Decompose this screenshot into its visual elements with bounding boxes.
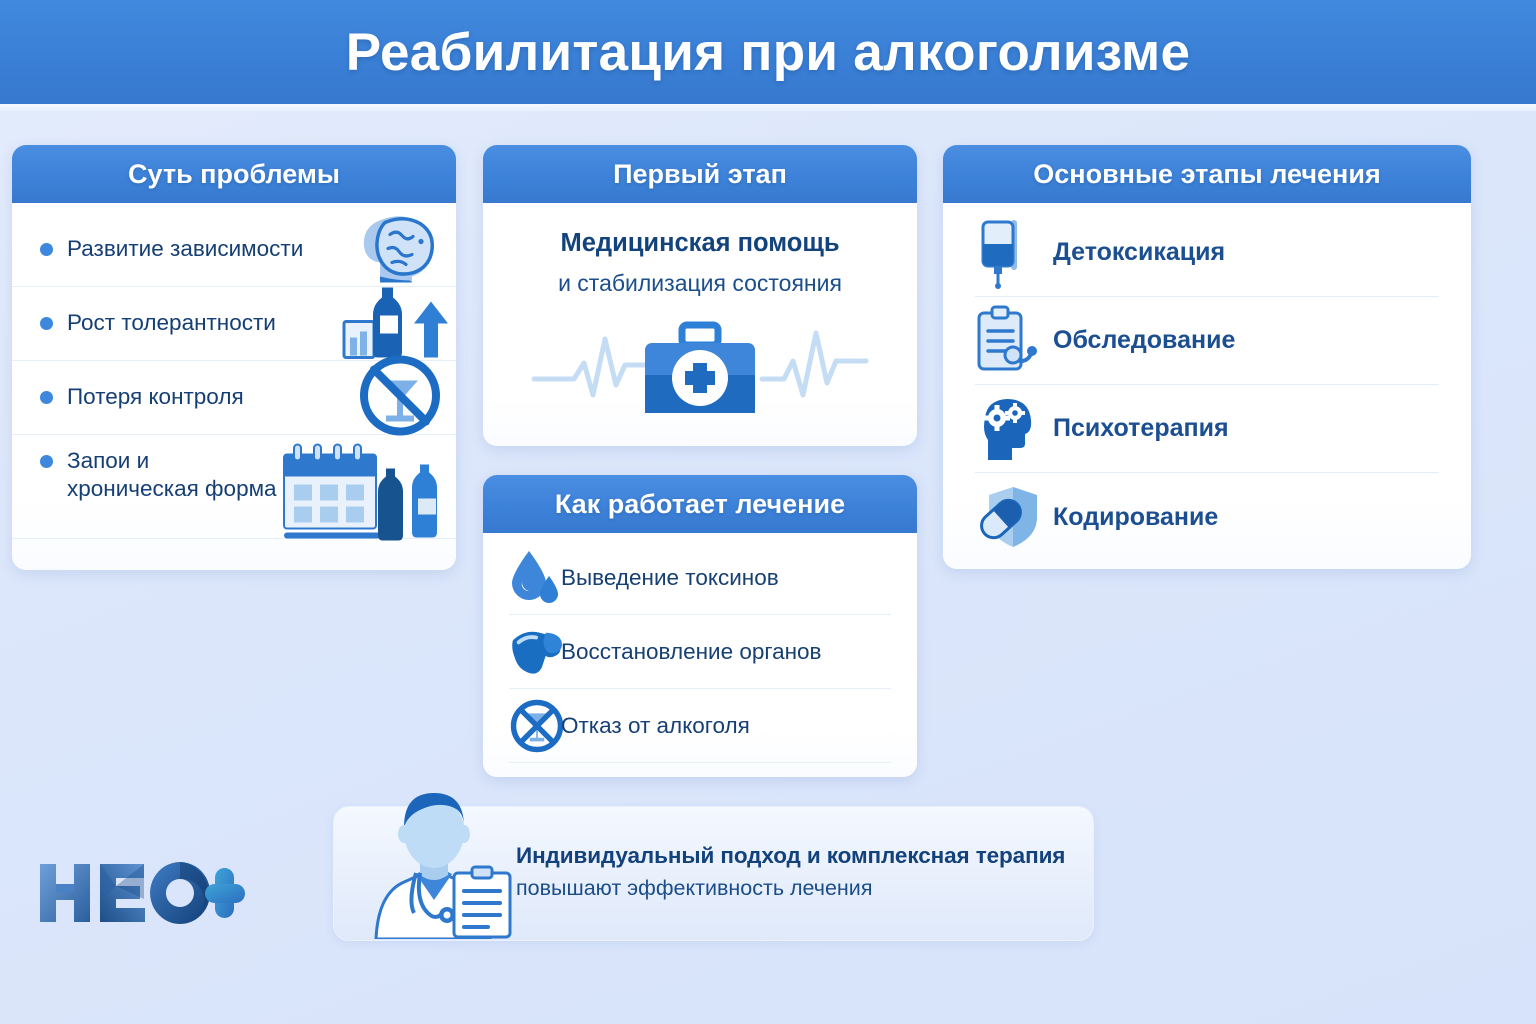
no-alcohol-glass-icon	[352, 352, 448, 443]
neo-plus-logo	[34, 856, 254, 930]
list-item[interactable]: Рост толерантности	[12, 287, 456, 361]
banner-line1: Индивидуальный подход и комплексная тера…	[516, 843, 1065, 869]
card-main-stages-header: Основные этапы лечения	[943, 145, 1471, 203]
header-underline	[0, 104, 1536, 111]
list-item-label: Развитие зависимости	[67, 235, 303, 263]
card-main-stages-title: Основные этапы лечения	[1033, 159, 1380, 190]
card-how-it-works-title: Как работает лечение	[555, 489, 845, 520]
iv-drip-bag-icon	[975, 216, 1053, 290]
list-item-label: Психотерапия	[1053, 414, 1229, 443]
list-item[interactable]: Потеря контроля	[12, 361, 456, 435]
liver-icon	[509, 626, 565, 678]
card-how-it-works-header: Как работает лечение	[483, 475, 917, 533]
bullet-dot	[40, 243, 53, 256]
first-stage-line1: Медицинская помощь	[503, 229, 897, 258]
list-item-label: Детоксикация	[1053, 238, 1225, 267]
list-item-label: Потеря контроля	[67, 383, 244, 411]
card-main-stages: Основные этапы лечения Детоксикация	[943, 145, 1471, 569]
list-item-label: Запои ихроническая форма	[67, 447, 277, 503]
card-problem: Суть проблемы Развитие зависимости	[12, 145, 456, 570]
page-title: Реабилитация при алкоголизме	[346, 22, 1191, 83]
list-item[interactable]: Запои ихроническая форма	[12, 435, 456, 539]
card-first-stage: Первый этап Медицинская помощь и стабили…	[483, 145, 917, 446]
pill-shield-icon	[975, 483, 1053, 551]
list-item[interactable]: Психотерапия	[975, 385, 1439, 473]
list-item-label: Обследование	[1053, 326, 1235, 355]
list-item[interactable]: Кодирование	[975, 473, 1439, 561]
water-drop-icon	[509, 549, 565, 607]
list-item-label: Кодирование	[1053, 503, 1218, 532]
head-gears-icon	[975, 394, 1053, 464]
list-item-label: Отказ от алкоголя	[561, 713, 750, 739]
bullet-dot	[40, 455, 53, 468]
card-problem-body: Развитие зависимости Рост толерантнос	[12, 203, 456, 570]
list-item[interactable]: Отказ от алкоголя	[509, 689, 891, 763]
problem-list: Развитие зависимости Рост толерантнос	[12, 203, 456, 539]
brain-head-icon	[352, 210, 448, 289]
list-item-label: Восстановление органов	[561, 639, 822, 665]
doctor-clipboard-icon	[354, 787, 519, 939]
first-stage-text: Медицинская помощь и стабилизация состоя…	[483, 203, 917, 297]
card-main-stages-body: Детоксикация Обследование	[943, 203, 1471, 569]
card-problem-header: Суть проблемы	[12, 145, 456, 203]
no-alcohol-icon	[509, 695, 565, 757]
clipboard-stethoscope-icon	[975, 305, 1053, 377]
banner-line2: повышают эффективность лечения	[516, 876, 1065, 901]
list-item[interactable]: Выведение токсинов	[509, 541, 891, 615]
list-item[interactable]: Обследование	[975, 297, 1439, 385]
calendar-bottles-icon	[274, 440, 456, 549]
card-first-stage-header: Первый этап	[483, 145, 917, 203]
list-item[interactable]: Восстановление органов	[509, 615, 891, 689]
list-item-label: Рост толерантности	[67, 309, 276, 337]
list-item[interactable]: Развитие зависимости	[12, 213, 456, 287]
card-how-it-works: Как работает лечение Выведение токсинов	[483, 475, 917, 777]
card-how-it-works-body: Выведение токсинов Восстановление органо…	[483, 533, 917, 777]
list-item[interactable]: Детоксикация	[975, 209, 1439, 297]
page-header: Реабилитация при алкоголизме	[0, 0, 1536, 104]
first-aid-kit-ecg-icon	[483, 311, 917, 423]
card-first-stage-body: Медицинская помощь и стабилизация состоя…	[483, 203, 917, 446]
card-first-stage-title: Первый этап	[613, 159, 787, 190]
bullet-dot	[40, 391, 53, 404]
list-item-label: Выведение токсинов	[561, 565, 779, 591]
card-problem-title: Суть проблемы	[128, 159, 340, 190]
bottom-banner: Индивидуальный подход и комплексная тера…	[333, 806, 1094, 941]
bottle-glass-arrow-up-icon	[338, 281, 448, 366]
banner-text: Индивидуальный подход и комплексная тера…	[516, 843, 1065, 901]
bullet-dot	[40, 317, 53, 330]
first-stage-line2: и стабилизация состояния	[503, 270, 897, 297]
